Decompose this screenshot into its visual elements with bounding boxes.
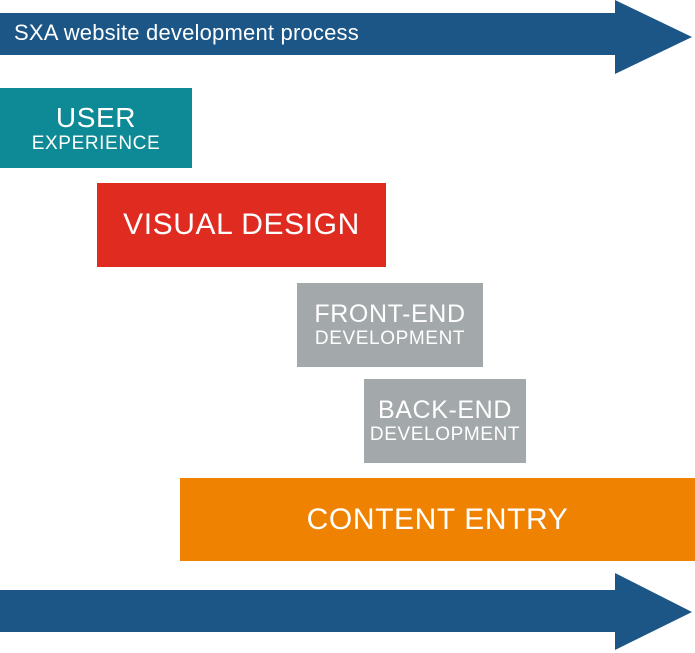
- diagram-title: SXA website development process: [14, 20, 359, 46]
- phase-secondary-label: DEVELOPMENT: [315, 328, 465, 349]
- diagram-canvas: SXA website development process USER EXP…: [0, 0, 695, 653]
- top-process-arrow: SXA website development process: [0, 0, 695, 76]
- phase-primary-label: BACK-END: [378, 396, 512, 424]
- phase-visual-design[interactable]: VISUAL DESIGN: [97, 183, 386, 267]
- phase-primary-label: USER: [56, 102, 136, 133]
- bottom-time-arrow: time to market: [0, 573, 695, 651]
- phase-content-entry[interactable]: CONTENT ENTRY: [180, 478, 695, 561]
- phase-front-end-development[interactable]: FRONT-END DEVELOPMENT: [297, 283, 483, 367]
- phase-secondary-label: DEVELOPMENT: [370, 424, 520, 445]
- phase-secondary-label: EXPERIENCE: [32, 133, 160, 154]
- phase-back-end-development[interactable]: BACK-END DEVELOPMENT: [364, 379, 526, 463]
- phase-primary-label: CONTENT ENTRY: [307, 503, 569, 537]
- phase-primary-label: VISUAL DESIGN: [123, 208, 360, 242]
- bottom-arrow-shape: [0, 573, 695, 651]
- phase-user-experience[interactable]: USER EXPERIENCE: [0, 88, 192, 168]
- phase-primary-label: FRONT-END: [314, 300, 465, 328]
